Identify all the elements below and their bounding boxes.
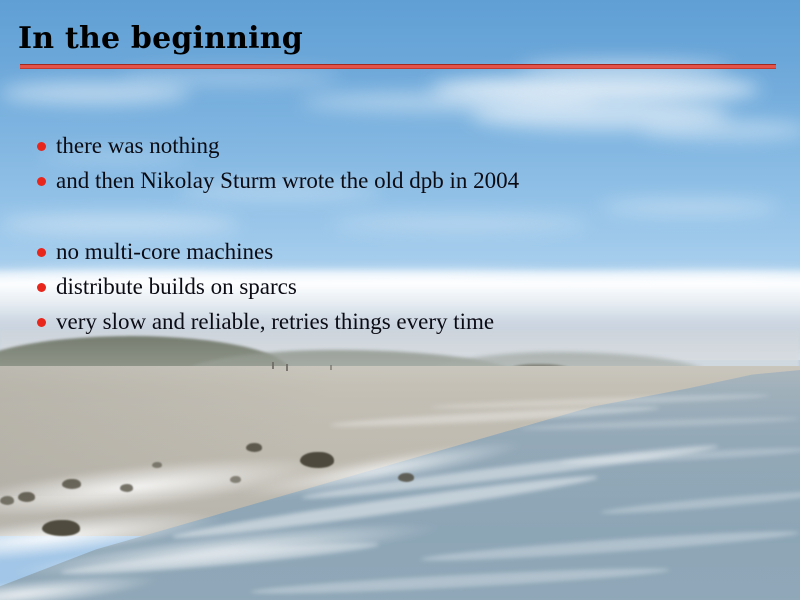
tideline-stone xyxy=(246,443,262,452)
bullet-dot-icon xyxy=(37,283,46,292)
distant-person xyxy=(330,365,332,370)
cloud-wisp xyxy=(520,60,730,78)
bullet-dot-icon xyxy=(37,177,46,186)
tideline-stone xyxy=(0,496,14,505)
distant-person xyxy=(286,364,288,371)
tideline-stone xyxy=(300,452,334,468)
bullet-item: distribute builds on sparcs xyxy=(37,272,777,307)
bullet-item: very slow and reliable, retries things e… xyxy=(37,307,777,342)
tideline-stone xyxy=(18,492,35,502)
bullet-dot-icon xyxy=(37,318,46,327)
tideline-stone xyxy=(120,484,133,492)
tideline-stone xyxy=(152,462,162,468)
bullet-item: and then Nikolay Sturm wrote the old dpb… xyxy=(37,166,777,201)
bullet-item: there was nothing xyxy=(37,131,777,166)
bullet-dot-icon xyxy=(37,248,46,257)
bullet-blank-line xyxy=(37,201,777,237)
bullet-text: no multi-core machines xyxy=(56,239,273,264)
cloud-wisp xyxy=(0,82,190,104)
distant-person xyxy=(272,362,274,369)
tideline-stone xyxy=(230,476,241,483)
tideline-stone xyxy=(42,520,80,536)
title-underline-rule xyxy=(20,64,776,69)
tideline-stone xyxy=(398,473,414,482)
tideline-stone xyxy=(62,479,81,489)
bullet-list: there was nothing and then Nikolay Sturm… xyxy=(37,131,777,342)
slide: In the beginning there was nothing and t… xyxy=(0,0,800,600)
bullet-text: and then Nikolay Sturm wrote the old dpb… xyxy=(56,168,519,193)
bullet-dot-icon xyxy=(37,142,46,151)
bullet-text: there was nothing xyxy=(56,133,220,158)
bullet-item: no multi-core machines xyxy=(37,237,777,272)
bullet-text: very slow and reliable, retries things e… xyxy=(56,309,494,334)
bullet-text: distribute builds on sparcs xyxy=(56,274,297,299)
slide-title: In the beginning xyxy=(18,20,303,58)
